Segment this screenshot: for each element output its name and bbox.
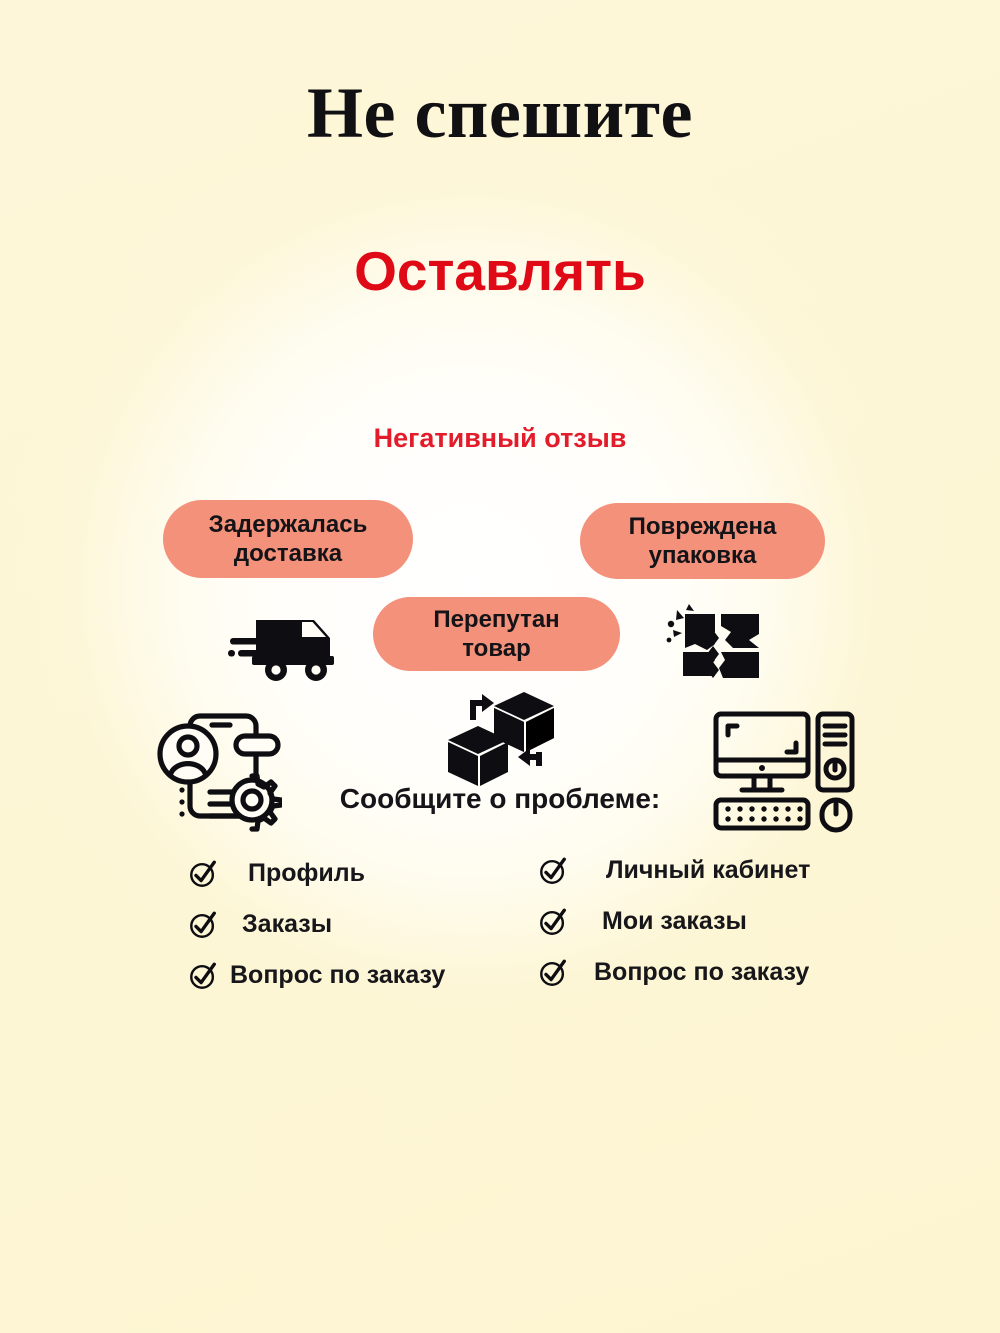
accent-title: Оставлять: [0, 243, 1000, 301]
list-item-label: Мои заказы: [602, 907, 747, 936]
check-circle-icon: [538, 856, 568, 886]
check-circle-icon: [188, 961, 218, 991]
list-item-label: Личный кабинет: [606, 856, 810, 885]
poster-canvas: Не спешите Оставлять Негативный отзыв За…: [0, 0, 1000, 1333]
checklist-mobile: Профиль Заказы Вопрос по заказу: [188, 848, 488, 1001]
list-item: Личный кабинет: [538, 845, 858, 896]
reason-pill-damaged-packaging: Повреждена упаковка: [580, 503, 825, 579]
subtitle-negative-review: Негативный отзыв: [0, 424, 1000, 454]
checklist-desktop: Личный кабинет Мои заказы Вопрос по зака…: [538, 845, 858, 998]
check-circle-icon: [538, 958, 568, 988]
check-circle-icon: [188, 910, 218, 940]
broken-package-icon: [663, 600, 765, 690]
list-item: Вопрос по заказу: [538, 947, 858, 998]
check-circle-icon: [538, 907, 568, 937]
reason-pill-delayed-delivery: Задержалась доставка: [163, 500, 413, 578]
list-item-label: Заказы: [242, 910, 332, 939]
list-item: Вопрос по заказу: [188, 950, 488, 1001]
delivery-truck-icon: [228, 604, 336, 682]
report-problem-label: Сообщите о проблеме:: [0, 783, 1000, 815]
list-item-label: Профиль: [248, 859, 365, 888]
list-item-label: Вопрос по заказу: [594, 958, 809, 987]
list-item: Профиль: [188, 848, 488, 899]
reason-pill-mixed-up-goods: Перепутан товар: [373, 597, 620, 671]
swapped-boxes-icon: [448, 690, 558, 788]
list-item: Заказы: [188, 899, 488, 950]
page-title: Не спешите: [0, 76, 1000, 152]
list-item-label: Вопрос по заказу: [230, 961, 445, 990]
list-item: Мои заказы: [538, 896, 858, 947]
check-circle-icon: [188, 859, 218, 889]
